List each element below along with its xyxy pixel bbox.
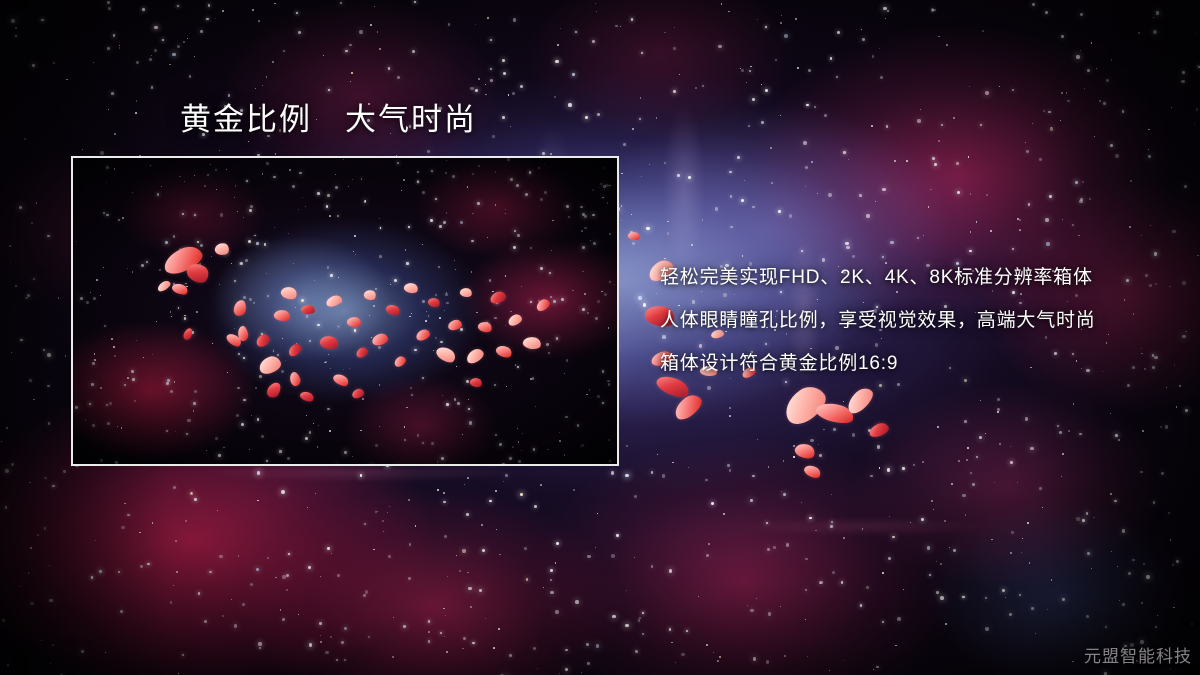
- star: [596, 11, 597, 12]
- star: [119, 45, 120, 46]
- star: [25, 297, 28, 300]
- star: [206, 18, 209, 21]
- star: [1169, 286, 1171, 288]
- star: [280, 609, 282, 611]
- star: [1172, 564, 1174, 566]
- star: [1029, 562, 1031, 564]
- star: [374, 6, 375, 7]
- star: [136, 100, 138, 102]
- star: [811, 161, 813, 163]
- star: [672, 462, 674, 464]
- star: [428, 631, 430, 633]
- star: [1012, 248, 1014, 250]
- star: [997, 398, 1000, 401]
- star: [151, 86, 153, 88]
- star: [879, 48, 880, 49]
- star: [836, 76, 838, 78]
- star: [555, 610, 559, 614]
- star: [1025, 142, 1026, 143]
- star: [459, 570, 461, 572]
- star: [876, 666, 879, 669]
- star: [1148, 129, 1150, 131]
- star: [823, 429, 825, 431]
- star: [1078, 235, 1080, 237]
- star: [127, 514, 129, 516]
- star: [888, 557, 892, 561]
- star: [266, 76, 268, 78]
- star: [997, 408, 1000, 411]
- star: [1051, 579, 1053, 581]
- star: [956, 162, 959, 165]
- star: [274, 3, 276, 5]
- star: [1093, 517, 1095, 519]
- star: [930, 189, 931, 190]
- star: [723, 513, 725, 515]
- star: [980, 124, 982, 126]
- star: [1025, 417, 1029, 421]
- star: [573, 489, 575, 491]
- star: [586, 643, 589, 646]
- star: [383, 531, 384, 532]
- star: [831, 494, 833, 496]
- star: [485, 84, 486, 85]
- star: [848, 159, 849, 160]
- star: [1185, 331, 1187, 333]
- star: [288, 553, 290, 555]
- star: [746, 82, 747, 83]
- star: [587, 555, 591, 559]
- star: [550, 579, 553, 582]
- star: [190, 492, 193, 495]
- star: [330, 636, 332, 638]
- star: [623, 143, 626, 146]
- star: [267, 557, 269, 559]
- star: [142, 8, 145, 11]
- star: [1160, 426, 1163, 429]
- star: [1155, 626, 1158, 629]
- star: [187, 38, 189, 40]
- star: [309, 643, 313, 647]
- star: [969, 86, 970, 87]
- star: [744, 180, 745, 181]
- star: [651, 565, 654, 568]
- star: [1191, 623, 1193, 625]
- star: [373, 549, 375, 551]
- star: [783, 493, 786, 496]
- star: [47, 385, 49, 387]
- star: [121, 526, 124, 529]
- star: [625, 474, 629, 478]
- star: [894, 160, 896, 162]
- star: [445, 615, 447, 617]
- star: [198, 592, 201, 595]
- star: [52, 485, 55, 488]
- star: [1012, 89, 1015, 92]
- star: [17, 17, 19, 19]
- star: [669, 628, 672, 631]
- star: [9, 245, 11, 247]
- star: [11, 19, 15, 23]
- star: [344, 627, 347, 630]
- star: [843, 401, 845, 403]
- star: [323, 55, 324, 56]
- star: [228, 94, 230, 96]
- star: [456, 555, 457, 556]
- star: [729, 407, 731, 409]
- star: [1087, 69, 1090, 72]
- star: [238, 555, 240, 557]
- star: [861, 29, 862, 30]
- star: [1150, 225, 1151, 226]
- star: [931, 8, 935, 12]
- star: [932, 157, 935, 160]
- star: [817, 193, 818, 194]
- star: [631, 18, 634, 21]
- star: [208, 4, 210, 6]
- star: [887, 468, 891, 472]
- star: [135, 112, 136, 113]
- star: [927, 546, 931, 550]
- star: [328, 89, 330, 91]
- star: [833, 428, 835, 430]
- star: [957, 191, 960, 194]
- star: [65, 355, 67, 357]
- star: [340, 2, 343, 5]
- star: [44, 527, 47, 530]
- star: [178, 673, 179, 674]
- star: [634, 557, 635, 558]
- star: [902, 467, 905, 470]
- star: [1032, 123, 1034, 125]
- star: [920, 109, 921, 110]
- star: [946, 44, 948, 46]
- star: [1117, 566, 1119, 568]
- star: [945, 623, 947, 625]
- star: [756, 598, 757, 599]
- star: [962, 596, 965, 599]
- star: [1122, 110, 1125, 113]
- star: [597, 513, 598, 514]
- star: [250, 583, 253, 586]
- star: [928, 206, 930, 208]
- star: [752, 206, 754, 208]
- star: [175, 540, 177, 542]
- star: [1148, 155, 1151, 158]
- star: [485, 94, 487, 96]
- star: [713, 652, 714, 653]
- star: [929, 574, 931, 576]
- star: [30, 602, 33, 605]
- star: [1045, 11, 1048, 14]
- star: [1076, 517, 1079, 520]
- star: [256, 568, 259, 571]
- star: [662, 474, 665, 477]
- star: [990, 230, 992, 232]
- star: [162, 39, 164, 41]
- star: [1026, 150, 1029, 153]
- star: [845, 242, 849, 246]
- star: [99, 570, 102, 573]
- star: [377, 31, 379, 33]
- star: [859, 194, 862, 197]
- star: [327, 547, 330, 550]
- star: [370, 24, 372, 26]
- star: [801, 250, 804, 253]
- star: [979, 436, 982, 439]
- star: [721, 3, 723, 5]
- star: [194, 56, 195, 57]
- star: [388, 67, 391, 70]
- star: [252, 9, 254, 11]
- star: [778, 210, 781, 213]
- star: [831, 521, 834, 524]
- star: [325, 651, 329, 655]
- star: [440, 632, 442, 634]
- star: [651, 471, 654, 474]
- star: [970, 472, 972, 474]
- star: [47, 353, 51, 357]
- star: [319, 622, 322, 625]
- star: [53, 62, 55, 64]
- star: [510, 126, 512, 128]
- star: [708, 543, 709, 544]
- star: [490, 79, 493, 82]
- star: [940, 563, 942, 565]
- star: [10, 262, 11, 263]
- star: [771, 182, 773, 184]
- petal: [671, 391, 706, 423]
- star: [595, 547, 597, 549]
- star: [1115, 154, 1119, 158]
- star: [664, 162, 667, 165]
- star: [621, 220, 623, 222]
- star: [1068, 430, 1070, 432]
- star: [470, 87, 474, 91]
- star: [48, 422, 50, 424]
- star: [1011, 531, 1014, 534]
- star: [1091, 42, 1093, 44]
- star: [730, 195, 733, 198]
- star: [392, 656, 394, 658]
- star: [595, 3, 596, 4]
- star: [222, 10, 224, 12]
- star: [524, 547, 527, 550]
- star: [940, 596, 944, 600]
- star: [962, 494, 966, 498]
- star: [11, 463, 14, 466]
- star: [933, 509, 935, 511]
- star: [934, 163, 937, 166]
- star: [944, 520, 946, 522]
- star: [379, 48, 381, 50]
- star: [490, 68, 492, 70]
- star: [846, 246, 849, 249]
- star: [475, 89, 478, 92]
- petal: [793, 441, 817, 461]
- star: [1174, 364, 1176, 366]
- star: [2, 619, 5, 622]
- star: [768, 612, 772, 616]
- star: [1176, 406, 1177, 407]
- star: [1082, 519, 1085, 522]
- star: [638, 296, 642, 300]
- star: [882, 188, 886, 192]
- star: [15, 285, 17, 287]
- star: [427, 150, 431, 154]
- star: [1171, 107, 1172, 108]
- star: [784, 655, 786, 657]
- star: [698, 596, 700, 598]
- star: [177, 45, 181, 49]
- star: [641, 52, 643, 54]
- star: [1179, 385, 1181, 387]
- star: [118, 571, 121, 574]
- star: [149, 58, 152, 61]
- star: [1049, 195, 1052, 198]
- star: [728, 11, 730, 13]
- star: [550, 591, 554, 595]
- star: [964, 420, 967, 423]
- star: [931, 500, 933, 502]
- star: [1009, 613, 1012, 616]
- star: [32, 64, 35, 67]
- star: [209, 571, 211, 573]
- star: [350, 81, 351, 82]
- star: [498, 628, 500, 630]
- star: [830, 525, 833, 528]
- star: [114, 133, 116, 135]
- picture-frame[interactable]: [71, 156, 619, 466]
- star: [642, 633, 645, 636]
- star: [508, 94, 510, 96]
- star: [581, 672, 582, 673]
- petal: [868, 421, 891, 439]
- star: [879, 467, 881, 469]
- star: [1084, 88, 1085, 89]
- star: [481, 524, 483, 526]
- star: [555, 562, 557, 564]
- star: [632, 128, 633, 129]
- star: [485, 618, 486, 619]
- star: [1129, 226, 1131, 228]
- star: [282, 618, 285, 621]
- star: [91, 576, 94, 579]
- star: [1146, 575, 1150, 579]
- star: [104, 465, 105, 466]
- star: [617, 398, 618, 399]
- star: [1099, 100, 1101, 102]
- star: [615, 25, 618, 28]
- star: [972, 483, 975, 486]
- star: [1156, 11, 1159, 14]
- star: [824, 114, 827, 117]
- star: [753, 657, 757, 661]
- star: [674, 27, 676, 29]
- star: [819, 454, 822, 457]
- star: [1080, 13, 1084, 17]
- star: [1153, 501, 1155, 503]
- star: [741, 199, 744, 202]
- star: [795, 18, 797, 20]
- star: [575, 31, 577, 33]
- star: [490, 39, 493, 42]
- star: [656, 117, 658, 119]
- star: [557, 44, 559, 46]
- star: [638, 619, 641, 622]
- star: [1066, 92, 1068, 94]
- star: [976, 456, 978, 458]
- star: [828, 193, 832, 197]
- star: [1061, 476, 1062, 477]
- star: [1141, 602, 1143, 604]
- star: [479, 589, 483, 593]
- star: [767, 548, 770, 551]
- star: [281, 490, 285, 494]
- star: [819, 581, 822, 584]
- star: [677, 174, 680, 177]
- star: [706, 644, 708, 646]
- star: [282, 575, 286, 579]
- star: [139, 532, 141, 534]
- star: [204, 620, 207, 623]
- star: [428, 640, 430, 642]
- star: [966, 459, 968, 461]
- star: [780, 22, 782, 24]
- star: [913, 464, 915, 466]
- star: [612, 615, 616, 619]
- star: [632, 242, 635, 245]
- star: [565, 668, 569, 672]
- star: [718, 45, 722, 49]
- star: [1082, 181, 1084, 183]
- star: [111, 92, 114, 95]
- star: [1057, 425, 1059, 427]
- star: [275, 577, 277, 579]
- star: [191, 492, 193, 494]
- petal: [802, 462, 822, 480]
- star: [1197, 65, 1198, 66]
- petal: [627, 231, 641, 242]
- star: [951, 483, 953, 485]
- star: [985, 597, 988, 600]
- star: [870, 475, 873, 478]
- star: [463, 637, 466, 640]
- star: [520, 493, 524, 497]
- star: [397, 76, 400, 79]
- star: [503, 481, 504, 482]
- star: [345, 50, 347, 52]
- star: [1111, 59, 1112, 60]
- star: [761, 84, 762, 85]
- star: [119, 47, 121, 49]
- star: [766, 522, 768, 524]
- star: [968, 156, 969, 157]
- star: [259, 647, 261, 649]
- star: [657, 454, 658, 455]
- star: [1172, 230, 1175, 233]
- star: [997, 411, 999, 413]
- star: [296, 12, 298, 14]
- star: [803, 141, 807, 145]
- star: [365, 590, 368, 593]
- star: [766, 660, 770, 664]
- star: [903, 589, 904, 590]
- star: [985, 627, 989, 631]
- star: [222, 615, 224, 617]
- star: [542, 152, 545, 155]
- star: [275, 153, 276, 154]
- star: [505, 474, 508, 477]
